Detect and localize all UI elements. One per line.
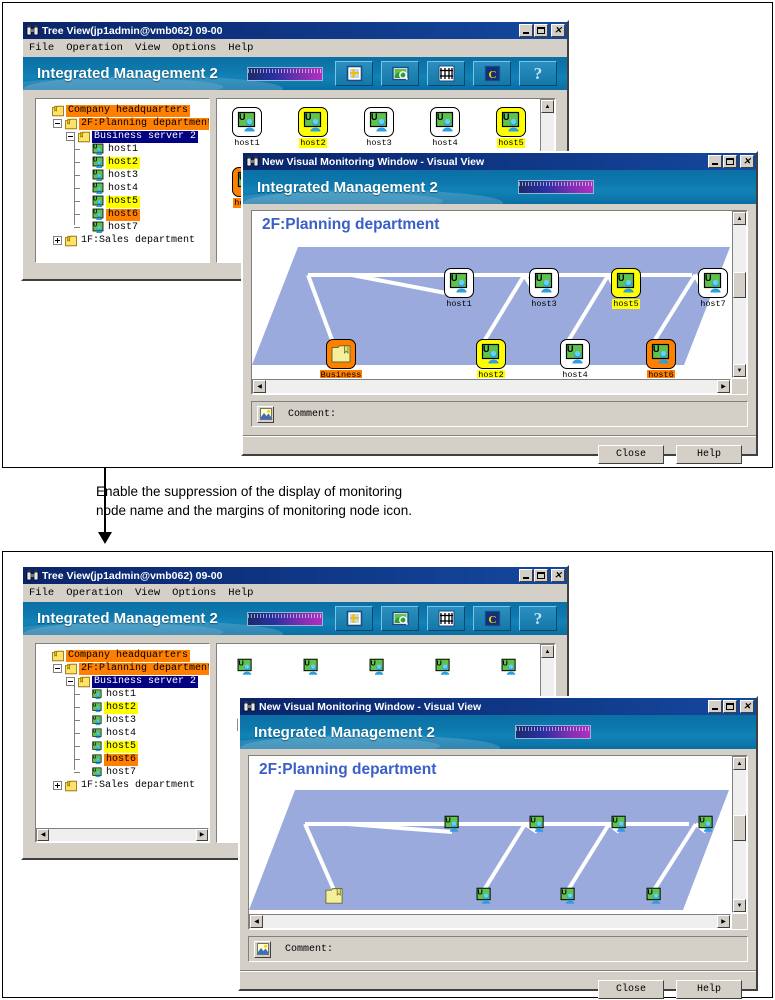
help-icon[interactable]: ? (519, 606, 557, 631)
window-controls[interactable]: ✕ (707, 700, 754, 713)
folder-icon (65, 118, 77, 130)
product-banner: Integrated Management 2 (243, 170, 756, 204)
node-item-2[interactable]: U (365, 657, 389, 677)
menu-file[interactable]: File (29, 587, 54, 599)
status-gauge (247, 612, 323, 626)
map-node-host2[interactable]: Uhost2 (468, 339, 514, 379)
map-node-label: host4 (561, 370, 589, 379)
monitoring-node-icon[interactable]: U (529, 268, 559, 298)
network-icon[interactable] (427, 61, 465, 86)
node-item-label: host4 (431, 138, 459, 148)
monitoring-node-icon[interactable]: U (232, 107, 262, 137)
svg-text:U: U (705, 273, 712, 283)
tree-item-label: host7 (106, 222, 140, 234)
comment-label: Comment: (285, 944, 333, 955)
product-banner: Integrated Management 2 (23, 602, 567, 635)
svg-text:U: U (445, 815, 450, 824)
tree-window-titlebar[interactable]: Tree View(jp1admin@vmb062) 09-00 ✕ (23, 567, 567, 584)
window-controls[interactable]: ✕ (707, 155, 754, 168)
svg-text:U: U (502, 658, 507, 667)
map-hscrollbar[interactable]: ◀ ▶ (249, 914, 731, 929)
svg-text:U: U (93, 184, 97, 190)
tree-item-host4[interactable]: Uhost4 (79, 727, 138, 740)
map-node-label: host3 (530, 299, 558, 309)
tree-item-label: Business server 2 (92, 131, 198, 143)
svg-text:U: U (305, 112, 312, 122)
visual-monitoring-window-before[interactable]: New Visual Monitoring Window - Visual Vi… (241, 151, 758, 456)
visual-window-title: New Visual Monitoring Window - Visual Vi… (262, 156, 707, 168)
svg-text:C: C (488, 69, 496, 81)
map-node-host6[interactable]: U (643, 886, 665, 906)
tree-item-host3[interactable]: Uhost3 (79, 714, 138, 727)
divider-highlight (240, 971, 756, 972)
product-banner: Integrated Management 2 (23, 57, 567, 90)
annotation-arrow-icon (98, 532, 112, 544)
visual-window-title: New Visual Monitoring Window - Visual Vi… (259, 701, 707, 713)
node-item-4[interactable]: U (497, 657, 521, 677)
help-dialog-button[interactable]: Help (676, 445, 742, 464)
map-vscroll-thumb[interactable] (733, 815, 746, 841)
tree-item-label: host4 (104, 728, 138, 740)
maximize-button[interactable] (534, 569, 548, 582)
minimize-button[interactable] (519, 24, 533, 37)
server-node-icon[interactable] (325, 886, 343, 906)
product-banner: Integrated Management 2 (240, 715, 756, 749)
menu-options[interactable]: Options (172, 587, 216, 599)
tree-item-label: host5 (104, 741, 138, 753)
map-node-label: Business server 2 (320, 370, 363, 379)
map-scroll-up-button[interactable]: ▲ (733, 212, 746, 225)
visual-monitoring-icon[interactable] (381, 61, 419, 86)
window-controls[interactable]: ✕ (518, 569, 565, 582)
product-title: Integrated Management 2 (257, 179, 438, 196)
tree-expander[interactable] (53, 119, 62, 128)
svg-text:U: U (699, 815, 704, 824)
tree-expander[interactable] (66, 132, 75, 141)
tree-connector (74, 685, 75, 770)
new-window-icon[interactable] (335, 606, 373, 631)
comment-bar[interactable]: Comment: (248, 936, 748, 962)
map-scroll-right-button[interactable]: ▶ (717, 915, 730, 928)
svg-text:U: U (93, 171, 97, 177)
binoculars-icon (246, 155, 259, 168)
map-node-host3[interactable]: Uhost3 (521, 268, 567, 309)
close-dialog-button[interactable]: Close (598, 980, 664, 999)
map-vscrollbar[interactable]: ▲ ▼ (732, 211, 747, 378)
map-node-host5[interactable]: U (608, 814, 630, 834)
monitoring-node-icon[interactable]: U (646, 339, 676, 369)
tree-item-label: host3 (106, 170, 140, 182)
svg-text:U: U (653, 344, 660, 354)
tree-scroll-right-button[interactable]: ▶ (196, 829, 208, 841)
status-gauge (518, 180, 594, 194)
scroll-corner (732, 914, 747, 929)
tree-hscrollbar[interactable]: ◀ ▶ (36, 828, 209, 842)
host-icon: U (91, 727, 102, 740)
map-node-host7[interactable]: Uhost7 (690, 268, 731, 309)
tree-item-host3[interactable]: Uhost3 (79, 169, 140, 182)
toolbar[interactable]: C ? (335, 61, 557, 86)
monitoring-node-icon[interactable]: U (434, 657, 452, 677)
host-icon: U (91, 221, 104, 234)
tree-item-2f-planning-department[interactable]: 2F:Planning department (53, 117, 209, 130)
node-item-host3[interactable]: Uhost3 (357, 107, 401, 148)
map-node-label: host7 (699, 299, 727, 309)
menubar[interactable]: File Operation View Options Help (23, 39, 567, 57)
monitoring-node-icon[interactable]: U (610, 814, 628, 834)
svg-text:U: U (93, 158, 97, 164)
tree-item-company-headquarters[interactable]: Company headquarters (40, 649, 190, 662)
menubar[interactable]: File Operation View Options Help (23, 584, 567, 602)
monitoring-node-icon[interactable]: U (528, 814, 546, 834)
new-window-icon[interactable] (335, 61, 373, 86)
console-icon[interactable]: C (473, 606, 511, 631)
close-button[interactable]: ✕ (551, 569, 565, 582)
monitoring-node-icon[interactable]: U (430, 107, 460, 137)
map-scroll-down-button[interactable]: ▼ (733, 899, 746, 912)
map-node-srv2[interactable] (323, 886, 345, 906)
tree-item-host5[interactable]: Uhost5 (79, 740, 138, 753)
tree-item-label: host7 (104, 767, 138, 779)
monitoring-node-icon[interactable]: U (560, 339, 590, 369)
svg-text:U: U (93, 145, 97, 151)
menu-view[interactable]: View (135, 42, 160, 54)
monitoring-node-icon[interactable]: U (236, 657, 254, 677)
map-node-host2[interactable]: U (473, 886, 495, 906)
annotation-text: Enable the suppression of the display of… (96, 482, 412, 520)
binoculars-icon (26, 569, 39, 582)
tree-item-2f-planning-department[interactable]: 2F:Planning department (53, 662, 209, 675)
product-title: Integrated Management 2 (254, 724, 435, 741)
tree-item-label: host2 (104, 702, 138, 714)
visual-map-before[interactable]: 2F:Planning department Uhost1Uhost3Uhost… (252, 211, 731, 378)
toolbar[interactable]: C ? (335, 606, 557, 631)
svg-text:U: U (93, 729, 96, 734)
svg-text:U: U (483, 344, 490, 354)
visual-window-titlebar[interactable]: New Visual Monitoring Window - Visual Vi… (243, 153, 756, 170)
monitoring-tree[interactable]: Company headquarters2F:Planning departme… (36, 99, 209, 262)
tree-item-host7[interactable]: Uhost7 (79, 221, 140, 234)
product-title: Integrated Management 2 (37, 65, 218, 82)
tree-item-host6[interactable]: Uhost6 (79, 208, 140, 221)
map-node-label: host1 (445, 299, 473, 309)
close-button[interactable]: ✕ (740, 155, 754, 168)
tree-item-host4[interactable]: Uhost4 (79, 182, 140, 195)
binoculars-icon (243, 700, 256, 713)
tree-expander[interactable] (53, 236, 62, 245)
node-item-0[interactable]: U (233, 657, 257, 677)
monitoring-node-icon[interactable]: U (443, 814, 461, 834)
menu-options[interactable]: Options (172, 42, 216, 54)
menu-view[interactable]: View (135, 587, 160, 599)
host-icon: U (91, 701, 102, 714)
tree-item-label: host1 (104, 689, 138, 701)
tree-item-label: 2F:Planning department (79, 663, 209, 675)
host-icon: U (91, 156, 104, 169)
svg-text:U: U (93, 755, 96, 760)
menu-help[interactable]: Help (228, 587, 253, 599)
host-icon: U (91, 182, 104, 195)
tree-window-titlebar[interactable]: Tree View(jp1admin@vmb062) 09-00 ✕ (23, 22, 567, 39)
tree-item-label: Company headquarters (66, 650, 190, 662)
scroll-up-button[interactable]: ▲ (541, 100, 554, 113)
visual-window-titlebar[interactable]: New Visual Monitoring Window - Visual Vi… (240, 698, 756, 715)
node-item-host1[interactable]: Uhost1 (225, 107, 269, 148)
node-item-host4[interactable]: Uhost4 (423, 107, 467, 148)
map-node-host1[interactable]: Uhost1 (436, 268, 482, 309)
map-node-host6[interactable]: Uhost6 (638, 339, 684, 379)
tree-item-label: host5 (106, 196, 140, 208)
map-node-srv2[interactable]: Business server 2 (318, 339, 364, 379)
map-vscrollbar[interactable]: ▲ ▼ (732, 756, 747, 913)
network-icon[interactable] (427, 606, 465, 631)
folder-icon (78, 676, 90, 688)
tree-item-label: host1 (106, 144, 140, 156)
help-icon[interactable]: ? (519, 61, 557, 86)
svg-text:U: U (647, 887, 652, 896)
tree-item-label: Company headquarters (66, 105, 190, 117)
map-scroll-up-button[interactable]: ▲ (733, 757, 746, 770)
console-icon[interactable]: C (473, 61, 511, 86)
node-item-label: host1 (233, 138, 261, 148)
tree-window-title: Tree View(jp1admin@vmb062) 09-00 (42, 25, 518, 37)
folder-icon (78, 131, 90, 143)
svg-text:U: U (567, 344, 574, 354)
host-icon: U (91, 169, 104, 182)
tree-item-label: 2F:Planning department (79, 118, 209, 130)
close-button[interactable]: ✕ (551, 24, 565, 37)
svg-text:U: U (238, 658, 243, 667)
folder-icon (52, 650, 64, 662)
tree-item-1f-sales-department[interactable]: 1F:Sales department (53, 779, 197, 792)
menu-operation[interactable]: Operation (66, 42, 123, 54)
tree-pane-container[interactable]: Company headquarters2F:Planning departme… (35, 98, 210, 263)
map-scroll-left-button[interactable]: ◀ (250, 915, 263, 928)
server-node-icon[interactable] (326, 339, 356, 369)
help-dialog-button[interactable]: Help (676, 980, 742, 999)
comment-label: Comment: (288, 409, 336, 420)
node-item-label: host2 (299, 138, 327, 148)
tree-expander[interactable] (53, 781, 62, 790)
node-item-3[interactable]: U (431, 657, 455, 677)
tree-item-host7[interactable]: Uhost7 (79, 766, 138, 779)
tree-item-host1[interactable]: Uhost1 (79, 688, 138, 701)
svg-text:U: U (371, 112, 378, 122)
maximize-button[interactable] (723, 700, 737, 713)
binoculars-icon (26, 24, 39, 37)
maximize-button[interactable] (534, 24, 548, 37)
map-node-label: host6 (647, 370, 675, 379)
map-vscroll-thumb[interactable] (733, 272, 746, 298)
monitoring-node-icon[interactable]: U (496, 107, 526, 137)
close-dialog-button[interactable]: Close (598, 445, 664, 464)
image-icon[interactable] (254, 941, 271, 958)
tree-expander[interactable] (53, 664, 62, 673)
tree-window-title: Tree View(jp1admin@vmb062) 09-00 (42, 570, 518, 582)
node-item-host5[interactable]: Uhost5 (489, 107, 533, 148)
scroll-up-button[interactable]: ▲ (541, 645, 554, 658)
monitoring-node-icon[interactable]: U (475, 886, 493, 906)
visual-map-after[interactable]: 2F:Planning department UUUUUUU (249, 756, 731, 913)
tree-item-label: host6 (104, 754, 138, 766)
svg-text:U: U (477, 887, 482, 896)
close-button[interactable]: ✕ (740, 700, 754, 713)
comment-bar[interactable]: Comment: (251, 401, 748, 427)
visual-map-container[interactable]: 2F:Planning department Uhost1Uhost3Uhost… (251, 210, 748, 395)
map-scroll-right-button[interactable]: ▶ (717, 380, 730, 393)
monitoring-node-icon[interactable]: U (500, 657, 518, 677)
map-node-host4[interactable]: Uhost4 (552, 339, 598, 379)
tree-item-label: host2 (106, 157, 140, 169)
monitoring-node-icon[interactable]: U (611, 268, 641, 298)
folder-icon (65, 780, 77, 792)
monitoring-node-icon[interactable]: U (298, 107, 328, 137)
map-title: 2F:Planning department (259, 761, 436, 779)
svg-text:U: U (93, 716, 96, 721)
svg-text:U: U (530, 815, 535, 824)
minimize-button[interactable] (708, 155, 722, 168)
map-node-label: host5 (612, 299, 640, 309)
tree-item-host6[interactable]: Uhost6 (79, 753, 138, 766)
host-icon: U (91, 195, 104, 208)
tree-item-label: host3 (104, 715, 138, 727)
tree-item-label: host6 (106, 209, 140, 221)
tree-item-label: host4 (106, 183, 140, 195)
tree-item-1f-sales-department[interactable]: 1F:Sales department (53, 234, 197, 247)
product-title: Integrated Management 2 (37, 610, 218, 627)
tree-item-host2[interactable]: Uhost2 (79, 156, 140, 169)
monitoring-node-icon[interactable]: U (559, 886, 577, 906)
tree-expander[interactable] (66, 677, 75, 686)
host-icon: U (91, 208, 104, 221)
svg-text:U: U (93, 210, 97, 216)
tree-item-company-headquarters[interactable]: Company headquarters (40, 104, 190, 117)
maximize-button[interactable] (723, 155, 737, 168)
monitoring-node-icon[interactable]: U (444, 268, 474, 298)
svg-text:U: U (239, 112, 246, 122)
monitoring-node-icon[interactable]: U (368, 657, 386, 677)
status-gauge (247, 67, 323, 81)
svg-text:U: U (93, 742, 96, 747)
svg-text:U: U (536, 273, 543, 283)
menu-help[interactable]: Help (228, 42, 253, 54)
map-hscrollbar[interactable]: ◀ ▶ (252, 379, 731, 394)
window-controls[interactable]: ✕ (518, 24, 565, 37)
tree-item-host2[interactable]: Uhost2 (79, 701, 138, 714)
node-item-label: host3 (365, 138, 393, 148)
node-item-1[interactable]: U (299, 657, 323, 677)
menu-file[interactable]: File (29, 42, 54, 54)
image-icon[interactable] (257, 406, 274, 423)
tree-pane-container[interactable]: Company headquarters2F:Planning departme… (35, 643, 210, 843)
svg-text:U: U (437, 112, 444, 122)
svg-text:U: U (618, 273, 625, 283)
node-item-host2[interactable]: Uhost2 (291, 107, 335, 148)
tree-item-label: 1F:Sales department (79, 780, 197, 792)
monitoring-tree[interactable]: Company headquarters2F:Planning departme… (36, 644, 209, 828)
folder-icon (65, 235, 77, 247)
host-icon: U (91, 766, 102, 779)
tree-item-business-server-2[interactable]: Business server 2 (66, 130, 198, 143)
host-icon: U (91, 143, 104, 156)
monitoring-node-icon[interactable]: U (364, 107, 394, 137)
map-node-label: host2 (477, 370, 505, 379)
tree-item-label: 1F:Sales department (79, 235, 197, 247)
map-scroll-down-button[interactable]: ▼ (733, 364, 746, 377)
visual-map-container[interactable]: 2F:Planning department UUUUUUU ▲ ▼ ◀ ▶ (248, 755, 748, 930)
svg-text:U: U (93, 197, 97, 203)
svg-text:U: U (436, 658, 441, 667)
host-icon: U (91, 714, 102, 727)
monitoring-node-icon[interactable]: U (476, 339, 506, 369)
svg-text:U: U (93, 223, 97, 229)
host-icon: U (91, 740, 102, 753)
svg-text:U: U (561, 887, 566, 896)
svg-text:C: C (488, 614, 496, 626)
map-node-host4[interactable]: U (557, 886, 579, 906)
annotation-group: Enable the suppression of the display of… (0, 468, 775, 551)
tree-item-host1[interactable]: Uhost1 (79, 143, 140, 156)
svg-text:U: U (612, 815, 617, 824)
monitoring-node-icon[interactable]: U (698, 268, 728, 298)
monitoring-node-icon[interactable]: U (645, 886, 663, 906)
folder-icon (65, 663, 77, 675)
svg-text:U: U (93, 768, 96, 773)
map-node-host7[interactable]: U (695, 814, 717, 834)
map-title: 2F:Planning department (262, 216, 439, 234)
svg-text:U: U (370, 658, 375, 667)
monitoring-node-icon[interactable]: U (302, 657, 320, 677)
tree-scroll-left-button[interactable]: ◀ (37, 829, 49, 841)
map-node-host5[interactable]: Uhost5 (603, 268, 649, 309)
svg-text:U: U (304, 658, 309, 667)
svg-text:U: U (503, 112, 510, 122)
host-icon: U (91, 688, 102, 701)
svg-text:U: U (451, 273, 458, 283)
tree-item-business-server-2[interactable]: Business server 2 (66, 675, 198, 688)
visual-monitoring-window-after[interactable]: New Visual Monitoring Window - Visual Vi… (238, 696, 758, 991)
minimize-button[interactable] (708, 700, 722, 713)
svg-text:U: U (93, 690, 96, 695)
folder-icon (52, 105, 64, 117)
tree-item-host5[interactable]: Uhost5 (79, 195, 140, 208)
node-item-label: host5 (497, 138, 525, 148)
map-node-host3[interactable]: U (526, 814, 548, 834)
minimize-button[interactable] (519, 569, 533, 582)
scroll-corner (732, 379, 747, 394)
tree-connector (74, 140, 75, 225)
host-icon: U (91, 753, 102, 766)
map-scroll-left-button[interactable]: ◀ (253, 380, 266, 393)
tree-item-label: Business server 2 (92, 676, 198, 688)
visual-monitoring-icon[interactable] (381, 606, 419, 631)
map-node-host1[interactable]: U (441, 814, 463, 834)
monitoring-node-icon[interactable]: U (697, 814, 715, 834)
svg-text:U: U (93, 703, 96, 708)
menu-operation[interactable]: Operation (66, 587, 123, 599)
divider-highlight (243, 436, 756, 437)
status-gauge (515, 725, 591, 739)
